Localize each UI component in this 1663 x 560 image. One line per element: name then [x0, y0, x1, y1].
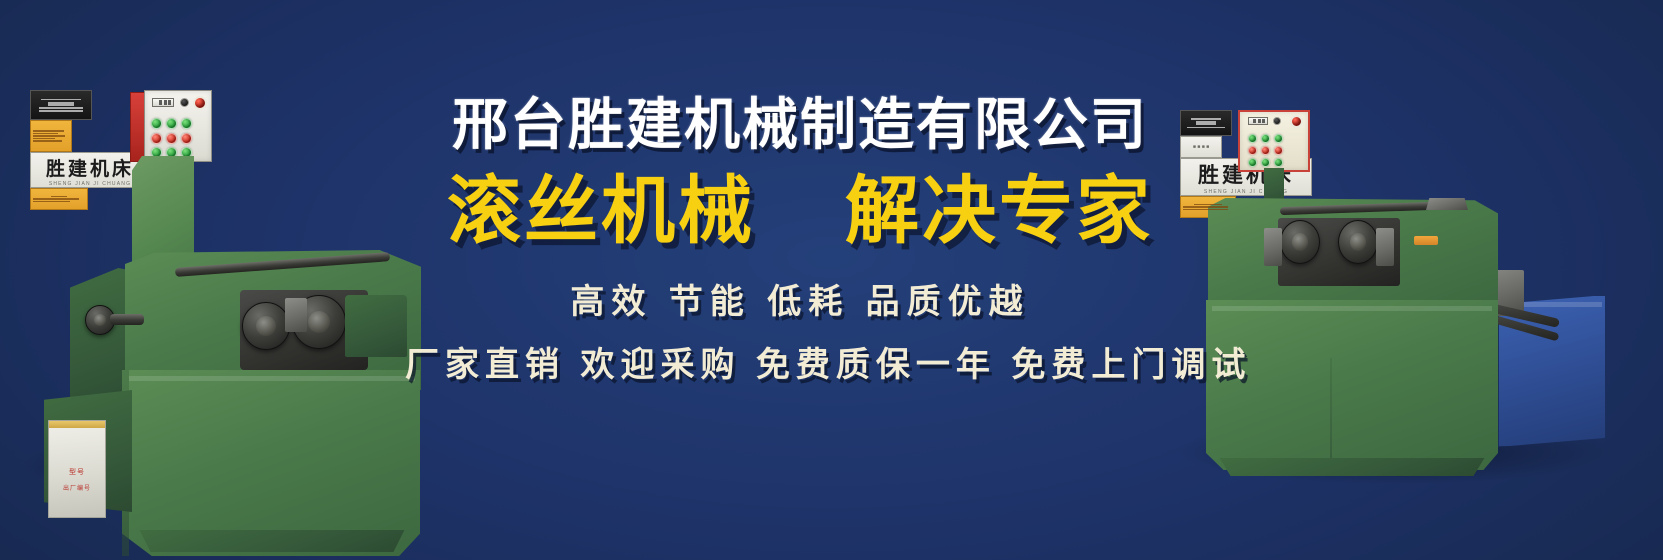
indicator-row-1[interactable] — [151, 118, 207, 129]
indicator-light[interactable] — [1274, 146, 1283, 155]
cabinet-sublabel: 出厂编号 — [49, 483, 105, 492]
roller-die-left — [1280, 220, 1320, 264]
machine-motor-cover — [345, 295, 407, 357]
roller-die-left — [242, 302, 290, 350]
info-card-lines: ■ ■ ■ ■ — [1193, 144, 1209, 150]
slide-block-left — [1264, 228, 1282, 266]
machine-body-panel-seam — [1330, 358, 1332, 466]
indicator-row-1[interactable] — [1248, 134, 1302, 143]
indicator-light[interactable] — [166, 118, 177, 129]
indicator-light[interactable] — [1261, 146, 1270, 155]
indicator-light[interactable] — [1261, 158, 1270, 167]
machine-base — [1214, 458, 1490, 476]
indicator-light[interactable] — [181, 133, 192, 144]
cabinet-label: 型号 — [49, 467, 105, 477]
headline-right: 解决专家 — [845, 173, 1153, 248]
control-panel-knob[interactable] — [180, 98, 189, 107]
indicator-light[interactable] — [151, 118, 162, 129]
indicator-row-2[interactable] — [1248, 146, 1302, 155]
indicator-light[interactable] — [166, 133, 177, 144]
left-machine: 胜建机床 SHENG JIAN JI CHUANG 型号 出厂编号 — [30, 90, 420, 490]
right-machine: ■ ■ ■ ■ 胜建机床 SHENG JIAN JI CHUANG — [1180, 110, 1650, 460]
promotional-banner: 胜建机床 SHENG JIAN JI CHUANG 型号 出厂编号 — [0, 0, 1663, 560]
indicator-row-2[interactable] — [151, 133, 207, 144]
machine-body-highlight — [1212, 306, 1492, 311]
control-panel-display — [152, 98, 174, 107]
control-panel-knob[interactable] — [1273, 117, 1281, 125]
electrical-cabinet: 型号 出厂编号 — [48, 420, 106, 518]
machine-main-body — [1206, 300, 1498, 470]
indicator-light[interactable] — [1248, 158, 1257, 167]
slide-block-right — [1376, 228, 1394, 266]
headline-row: 滚丝机械 解决专家 — [405, 173, 1195, 248]
machine-note-label — [30, 188, 88, 210]
emergency-stop-button[interactable] — [193, 96, 207, 110]
machine-spec-plate — [30, 90, 92, 120]
banner-text-block: 邢台胜建机械制造有限公司 滚丝机械 解决专家 高效 节能 低耗 品质优越 厂家直… — [405, 96, 1195, 386]
subtitle-line-2: 厂家直销 欢迎采购 免费质保一年 免费上门调试 — [405, 337, 1195, 386]
subtitle-line-1: 高效 节能 低耗 品质优越 — [405, 274, 1195, 323]
indicator-light[interactable] — [1274, 158, 1283, 167]
emergency-stop-button[interactable] — [1290, 115, 1303, 128]
indicator-light[interactable] — [1248, 134, 1257, 143]
machine-coolant-connector — [1414, 236, 1438, 245]
company-name: 邢台胜建机械制造有限公司 — [405, 96, 1195, 155]
indicator-light[interactable] — [1274, 134, 1283, 143]
machine-spindle-block — [285, 298, 307, 332]
machine-warning-label-right — [30, 120, 72, 152]
control-panel-display — [1248, 117, 1268, 125]
left-end-shaft — [110, 314, 144, 325]
indicator-light[interactable] — [1248, 146, 1257, 155]
machine-base — [134, 530, 410, 552]
indicator-light[interactable] — [1261, 134, 1270, 143]
headline-left: 滚丝机械 — [447, 173, 755, 248]
machine-top-fixture — [1426, 198, 1468, 210]
left-machine-control-panel[interactable] — [130, 90, 212, 162]
indicator-row-3[interactable] — [1248, 158, 1302, 167]
brand-plate-chinese: 胜建机床 — [46, 154, 134, 181]
brand-plate-pinyin: SHENG JIAN JI CHUANG — [49, 181, 131, 187]
indicator-light[interactable] — [151, 133, 162, 144]
roller-die-right — [1338, 220, 1378, 264]
right-machine-control-panel[interactable] — [1238, 110, 1310, 172]
indicator-light[interactable] — [181, 118, 192, 129]
machine-main-body — [122, 370, 420, 556]
machine-body-highlight — [129, 376, 415, 381]
